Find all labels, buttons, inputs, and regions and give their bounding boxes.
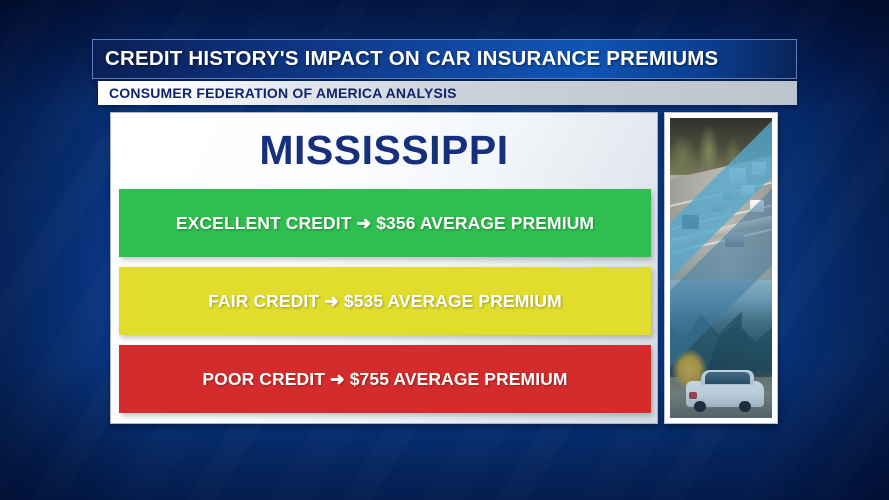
highway-car <box>711 202 724 212</box>
scenic-car-photo <box>670 280 772 418</box>
highway-truck <box>729 168 746 183</box>
highway-car <box>723 190 735 200</box>
credit-row-poor-text: POOR CREDIT ➜ $755 AVERAGE PREMIUM <box>202 369 567 390</box>
subheadline-text: CONSUMER FEDERATION OF AMERICA ANALYSIS <box>98 85 457 101</box>
credit-row-fair: FAIR CREDIT ➜ $535 AVERAGE PREMIUM <box>119 267 651 335</box>
headline-bar: CREDIT HISTORY'S IMPACT ON CAR INSURANCE… <box>92 39 797 79</box>
white-car-window <box>705 372 750 383</box>
credit-row-poor: POOR CREDIT ➜ $755 AVERAGE PREMIUM <box>119 345 651 413</box>
headline-title: CREDIT HISTORY'S IMPACT ON CAR INSURANCE… <box>93 47 718 71</box>
state-name-heading: MISSISSIPPI <box>111 127 657 174</box>
highway-truck <box>752 162 766 175</box>
highway-car <box>750 200 764 212</box>
credit-row-excellent-text: EXCELLENT CREDIT ➜ $356 AVERAGE PREMIUM <box>176 213 594 234</box>
highway-car <box>725 232 744 247</box>
highway-photo <box>670 118 772 286</box>
subheadline-bar: CONSUMER FEDERATION OF AMERICA ANALYSIS <box>98 81 797 105</box>
photo-inner <box>670 118 772 418</box>
photo-panel <box>664 112 778 424</box>
credit-row-excellent: EXCELLENT CREDIT ➜ $356 AVERAGE PREMIUM <box>119 189 651 257</box>
content-panel: MISSISSIPPI EXCELLENT CREDIT ➜ $356 AVER… <box>110 112 658 424</box>
highway-car <box>741 185 754 195</box>
white-car-taillight <box>689 392 696 399</box>
highway-car <box>682 215 698 228</box>
credit-row-fair-text: FAIR CREDIT ➜ $535 AVERAGE PREMIUM <box>208 291 562 312</box>
